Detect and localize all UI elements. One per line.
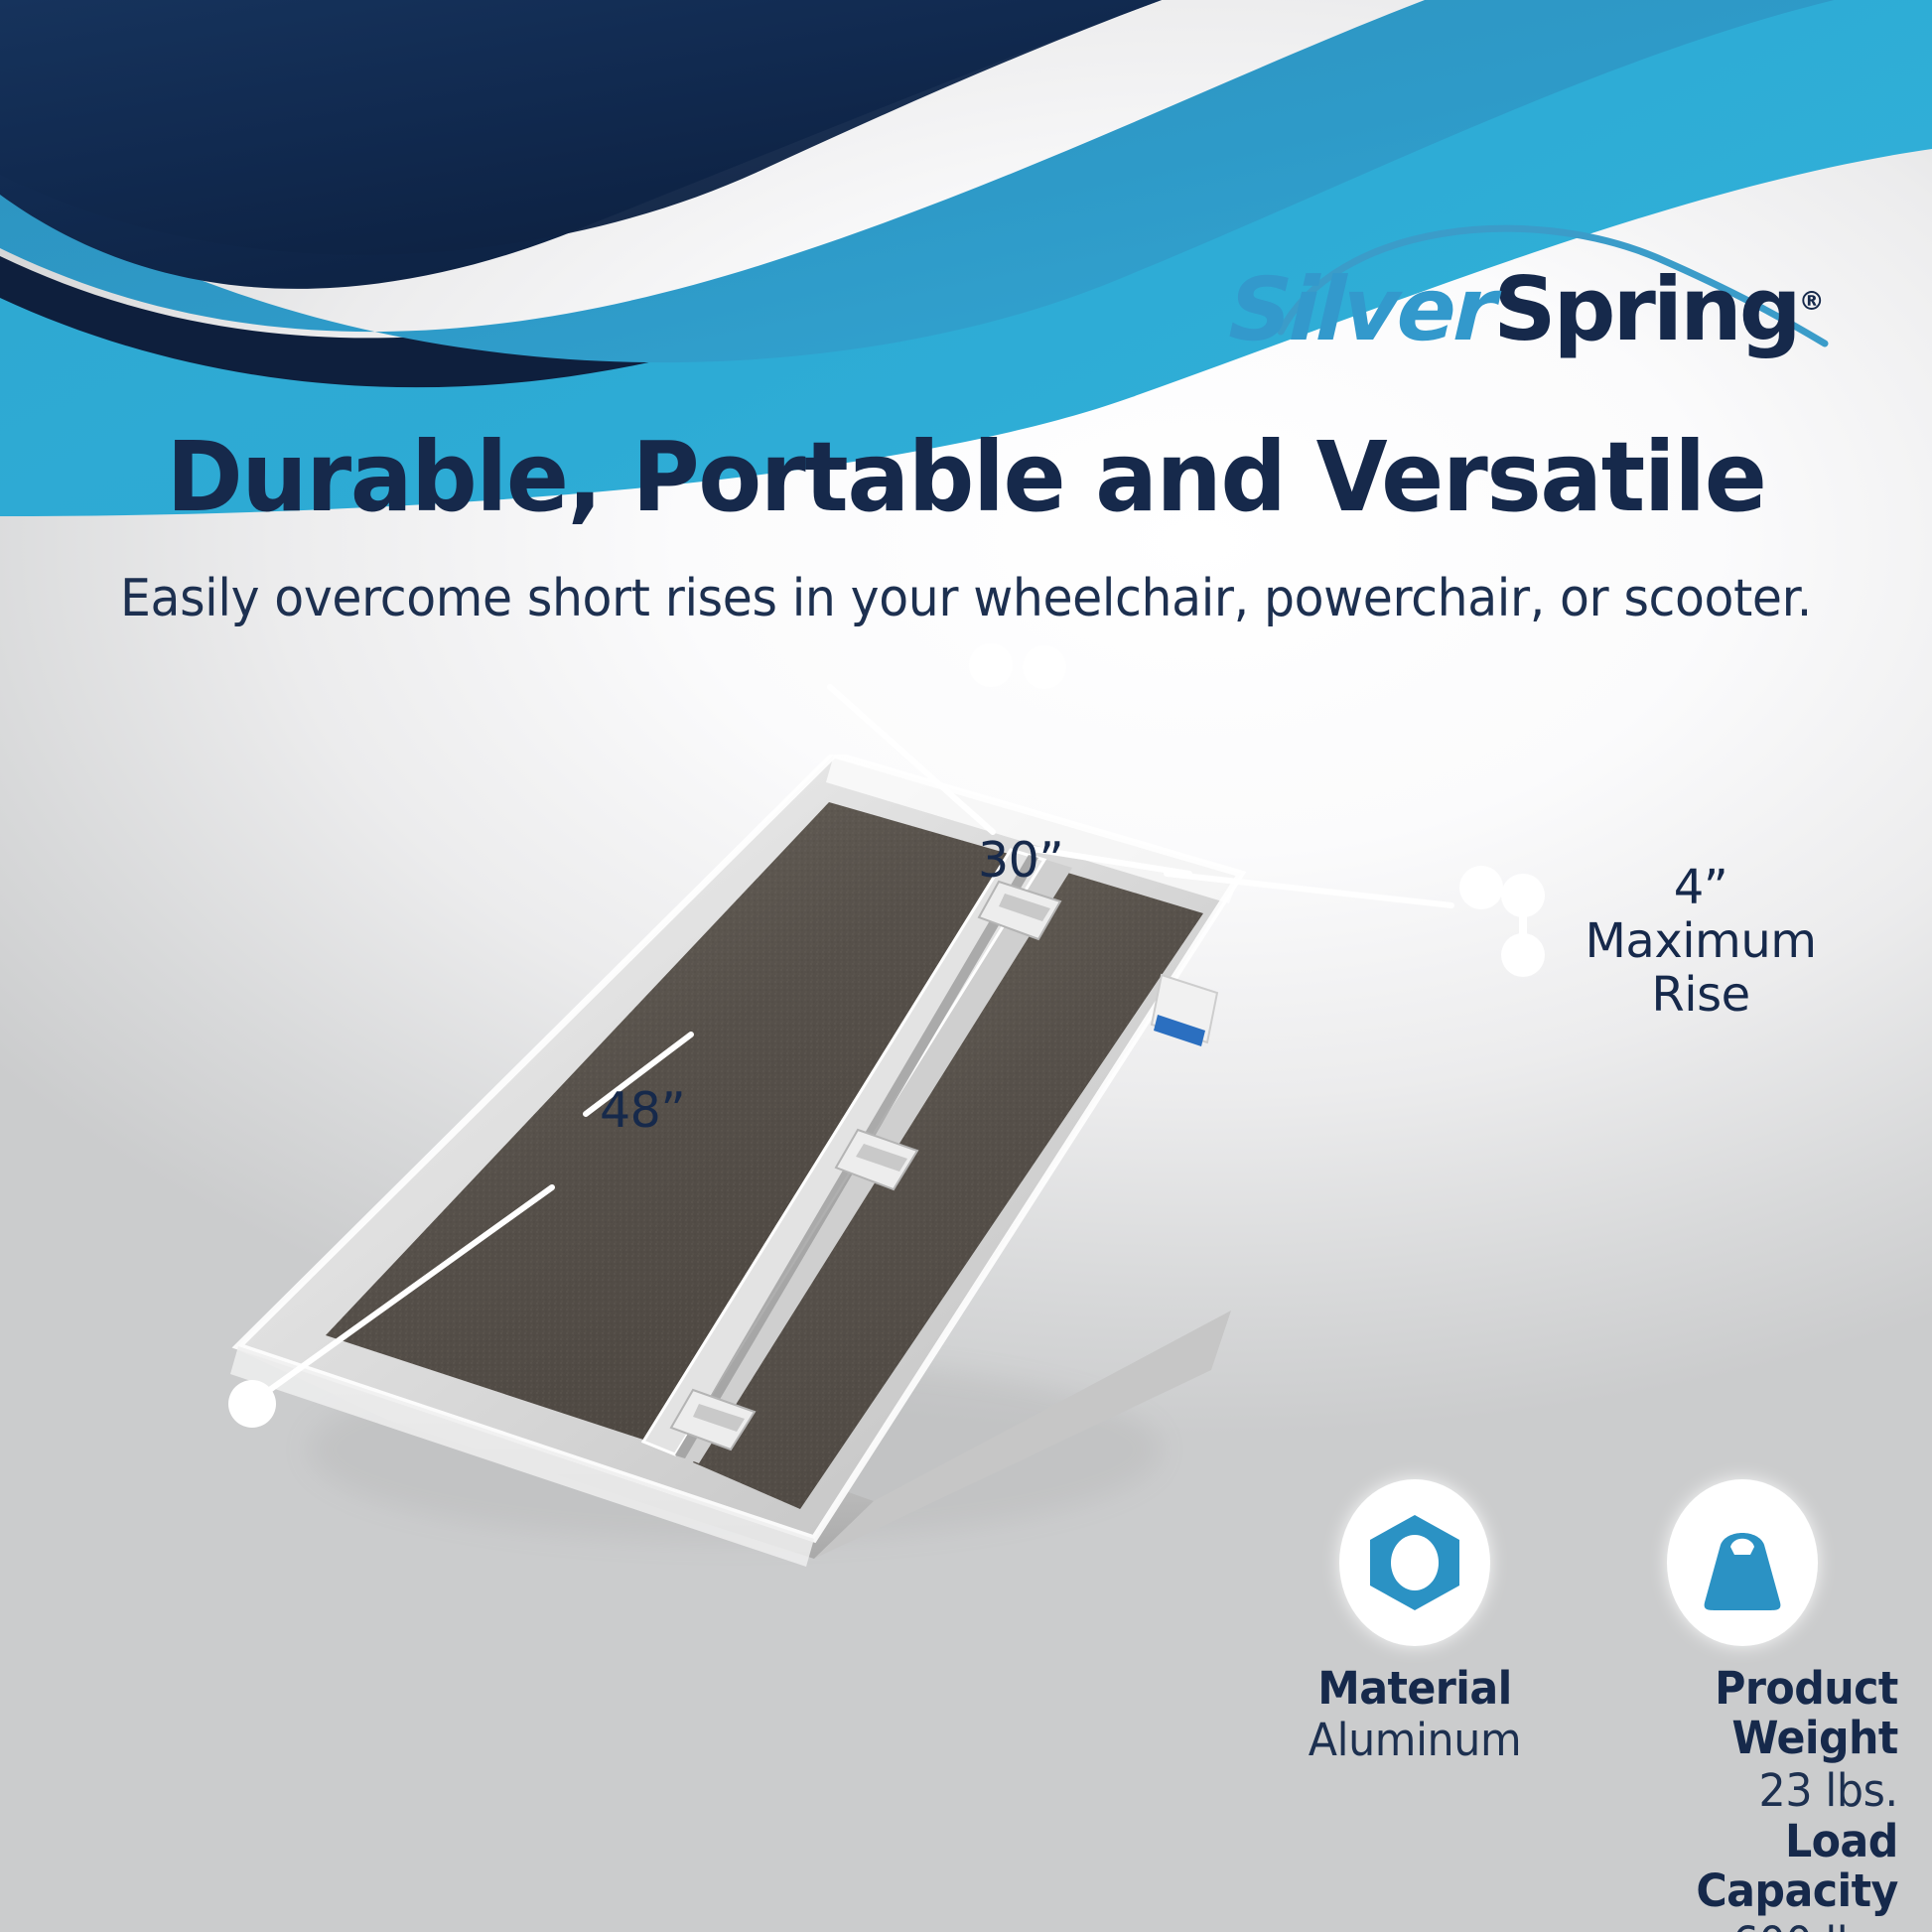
product-image-ramp	[179, 755, 1350, 1588]
page-subtitle: Easily overcome short rises in your whee…	[58, 571, 1873, 627]
material-title: Material	[1297, 1664, 1533, 1714]
dimension-label-length: 48”	[600, 1082, 685, 1139]
capacity-title: Load Capacity	[1587, 1817, 1898, 1917]
weight-title: Product Weight	[1587, 1664, 1898, 1764]
callout-dot-rise-lower	[1501, 933, 1545, 977]
spec-material: Material Aluminum	[1291, 1479, 1539, 1766]
logo-text-silver: Silver	[1227, 262, 1495, 357]
hex-nut-icon	[1359, 1507, 1470, 1618]
weight-badge	[1667, 1479, 1818, 1646]
brand-logo: SilverSpring®	[1229, 210, 1864, 349]
callout-dot-rise-upper	[1501, 874, 1545, 917]
dimension-rise-word1: Maximum	[1572, 915, 1830, 969]
specifications-group: Material Aluminum Product Weight 23 lbs.…	[1291, 1479, 1906, 1916]
dimension-rise-word2: Rise	[1572, 969, 1830, 1023]
spec-weight: Product Weight 23 lbs. Load Capacity 600…	[1579, 1479, 1906, 1932]
callout-dot-30-end	[1459, 866, 1503, 909]
callout-dot-top-a	[969, 643, 1013, 687]
page-title: Durable, Portable and Versatile	[39, 429, 1893, 525]
callout-dot-top-b	[1023, 645, 1066, 689]
weight-value: 23 lbs.	[1587, 1764, 1898, 1817]
ramp-product-label	[1152, 975, 1217, 1046]
dimension-label-rise: 4” Maximum Rise	[1572, 862, 1830, 1022]
material-badge	[1339, 1479, 1490, 1646]
capacity-value: 600 lbs.	[1587, 1917, 1898, 1932]
logo-registered-icon: ®	[1799, 287, 1822, 317]
dimension-rise-value: 4”	[1572, 862, 1830, 915]
dimension-label-width: 30”	[978, 832, 1063, 889]
infographic-canvas: SilverSpring® Durable, Portable and Vers…	[0, 0, 1932, 1932]
logo-text-spring: Spring	[1493, 262, 1799, 357]
weight-icon	[1687, 1507, 1798, 1618]
material-value: Aluminum	[1297, 1714, 1533, 1766]
